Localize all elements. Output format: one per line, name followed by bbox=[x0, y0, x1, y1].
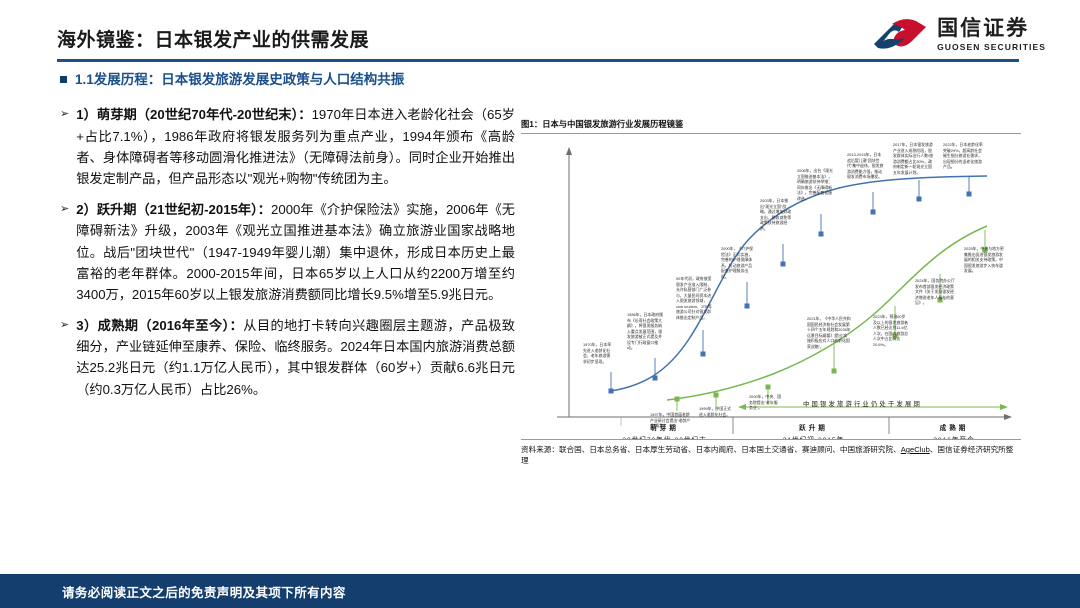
paragraph-lead: 3）成熟期（2016年至今）： bbox=[76, 318, 243, 333]
y-axis-arrow-icon bbox=[566, 147, 572, 155]
phase-label-1: 萌芽期 20世纪70年代-20世纪末 bbox=[597, 422, 732, 439]
source-prefix: 资料来源：联合国、日本总务省、日本厚生劳动省、日本内阁府、日本国土交通省、赛迪顾… bbox=[521, 445, 901, 454]
annotation-japan-2003: 2003年，日本推出"观光立国"战略，通过增加财政支出、税收减免等政策扶持旅游经… bbox=[760, 198, 792, 231]
logo-chinese-name: 国信证券 bbox=[937, 18, 1046, 39]
phase-name: 萌芽期 bbox=[597, 422, 732, 432]
china-curve bbox=[667, 226, 987, 400]
annotation-china-2025: 2025年，中央与地方密集推出促进银发旅游发展的相关支持政策，中国银发旅游步入快… bbox=[964, 246, 1006, 274]
annotation-china-2023: 2023年，预测60岁及以上的银发旅游者人数已经达到11.6亿人次，在国内旅游总… bbox=[873, 314, 909, 347]
annotation-china-2000: 2000年，中央、国务院提出"老年服务业"。 bbox=[749, 394, 781, 411]
paragraph-text: 1）萌芽期（20世纪70年代-20世纪末）：1970年日本进入老龄化社会（65岁… bbox=[76, 104, 515, 190]
annotation-japan-1970: 1970年，日本率先进入老龄化社会，老年旅游需求初步显现。 bbox=[583, 342, 613, 364]
section-heading: 1.1发展历程：日本银发旅游发展史政策与人口结构共振 bbox=[60, 70, 515, 90]
annotation-japan-2022: 2022年，日本老龄化率突破29%，超高龄社会催生细分旅游业需求，出现细分的适老… bbox=[943, 142, 983, 170]
phase-span: 21世纪初-2015年 bbox=[746, 434, 881, 439]
paragraph-item: ➢ 3）成熟期（2016年至今）：从目的地打卡转向兴趣圈层主题游，产品极致细分，… bbox=[60, 315, 515, 401]
phase-label-2: 跃升期 21世纪初-2015年 bbox=[746, 422, 881, 439]
annotation-japan-2006: 2006年，出台《观光立国推进基本法》，明确旅游扶持举措；同年推出《无障碍新法》… bbox=[797, 168, 833, 201]
figure-bottom-rule bbox=[521, 439, 1021, 440]
annotation-china-1999: 1999年，中国正式进入老龄化社会。 bbox=[699, 406, 731, 417]
paragraph-text: 2）跃升期（21世纪初-2015年）：2000年《介护保险法》实施，2006年《… bbox=[76, 199, 515, 306]
paragraph-item: ➢ 2）跃升期（21世纪初-2015年）：2000年《介护保险法》实施，2006… bbox=[60, 199, 515, 306]
arrow-bullet-icon: ➢ bbox=[60, 201, 69, 218]
phase-name: 跃升期 bbox=[746, 422, 881, 432]
annotation-japan-2013: 2013-2015年，日本战后婴儿潮"团块世代"集中退休，银发旅游消费能力强，推… bbox=[847, 152, 885, 180]
annotation-china-2021: 2021年，《中华人民共和国国民经济和社会发展第十四个五年规划和2035年远景目… bbox=[807, 316, 851, 349]
annotation-japan-2017: 2017年，日本银发旅游产业进入成熟阶段，银发群体实际出行人数/旅游消费额占比3… bbox=[893, 142, 933, 175]
phase-span: 20世纪70年代-20世纪末 bbox=[597, 434, 732, 439]
guosen-logo-icon bbox=[872, 18, 928, 52]
x-axis-arrow-icon bbox=[1004, 414, 1012, 420]
footer-disclaimer: 请务必阅读正文之后的免责声明及其项下所有内容 bbox=[62, 582, 346, 601]
figure-caption: 图1：日本与中国银发旅游行业发展历程镜鉴 bbox=[521, 118, 1021, 130]
phase-label-3: 成熟期 2016年至今 bbox=[899, 422, 1009, 439]
paragraph-lead: 1）萌芽期（20世纪70年代-20世纪末）： bbox=[76, 107, 311, 122]
slide: 海外镜鉴：日本银发产业的供需发展 国信证券 GUOSEN SECURITIES … bbox=[0, 0, 1080, 608]
paragraph-text: 3）成熟期（2016年至今）：从目的地打卡转向兴趣圈层主题游，产品极致细分，产业… bbox=[76, 315, 515, 401]
square-bullet-icon bbox=[60, 76, 67, 83]
annotation-china-2024: 2024年，国务院办公厅发布首部银发经济政策文件《关于发展银发经济增进老年人福祉… bbox=[915, 278, 955, 306]
arrow-bullet-icon: ➢ bbox=[60, 317, 69, 334]
logo-english-name: GUOSEN SECURITIES bbox=[937, 43, 1046, 52]
company-logo: 国信证券 GUOSEN SECURITIES bbox=[872, 18, 1046, 52]
annotation-japan-1986: 1986年，日本政府颁布《长寿社会政策大纲》，将银发服务纳入重点发展范围，银发旅… bbox=[627, 312, 664, 351]
figure-source: 资料来源：联合国、日本总务省、日本厚生劳动省、日本内阁府、日本国土交通省、赛迪顾… bbox=[521, 444, 1019, 467]
paragraph-item: ➢ 1）萌芽期（20世纪70年代-20世纪末）：1970年日本进入老龄化社会（6… bbox=[60, 104, 515, 190]
china-development-note: 中国银发旅游行业仍处于发展期 bbox=[803, 399, 922, 408]
section-heading-text: 1.1发展历程：日本银发旅游发展史政策与人口结构共振 bbox=[75, 70, 404, 90]
phase-span: 2016年至今 bbox=[899, 434, 1009, 439]
annotation-japan-1990s: 90年代初，政府放宽银发产业准入限制，允许私营部门广泛参与，大量民间资本进入银发… bbox=[676, 276, 714, 320]
page-title: 海外镜鉴：日本银发产业的供需发展 bbox=[57, 25, 369, 52]
footer-bar: 请务必阅读正文之后的免责声明及其项下所有内容 bbox=[0, 574, 1080, 608]
content-column: 1.1发展历程：日本银发旅游发展史政策与人口结构共振 ➢ 1）萌芽期（20世纪7… bbox=[60, 70, 515, 409]
paragraph-lead: 2）跃升期（21世纪初-2015年）： bbox=[76, 202, 271, 217]
phase-name: 成熟期 bbox=[899, 422, 1009, 432]
arrow-bullet-icon: ➢ bbox=[60, 106, 69, 123]
title-divider bbox=[57, 59, 1019, 62]
annotation-japan-2000: 2000年，《介护保险法》正式实施，完善的护理保障体系，拉动旅游产品配套护理服务… bbox=[721, 246, 755, 279]
source-ageclub-link[interactable]: AgeClub bbox=[901, 445, 930, 454]
figure-body: 1970年，日本率先进入老龄化社会，老年旅游需求初步显现。 1986年，日本政府… bbox=[521, 134, 1021, 439]
figure-panel: 图1：日本与中国银发旅游行业发展历程镜鉴 bbox=[521, 118, 1021, 467]
